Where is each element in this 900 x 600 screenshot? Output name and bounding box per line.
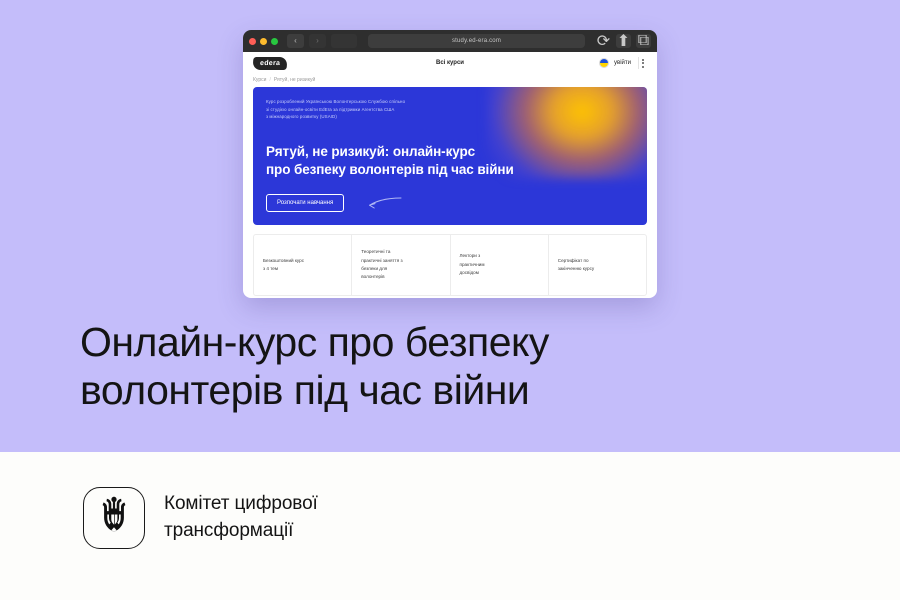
feature-card: Лектори з практичним досвідом	[451, 235, 549, 295]
committee-footer: Комітет цифрової трансформації	[83, 487, 318, 549]
tabs-overview-icon[interactable]: ⧉	[636, 34, 651, 48]
browser-window-mockup: ‹ › study.ed-era.com ⟳ ⬆ ⧉ edera Всі кур…	[243, 30, 657, 298]
edera-logo[interactable]: edera	[253, 57, 288, 70]
feature-card: Сертифікат по закінченню курсу	[549, 235, 646, 295]
close-window-button[interactable]	[249, 38, 256, 45]
committee-name: Комітет цифрової трансформації	[164, 491, 318, 545]
url-text: study.ed-era.com	[452, 38, 501, 44]
hero-title: Рятуй, не ризикуй: онлайн-курс про безпе…	[266, 143, 634, 178]
forward-icon[interactable]: ›	[309, 34, 326, 48]
address-bar[interactable]: study.ed-era.com	[368, 34, 585, 48]
browser-toolbar: ‹ › study.ed-era.com ⟳ ⬆ ⧉	[243, 30, 657, 52]
breadcrumb: Курси / Рятуй, не ризикуй	[243, 74, 657, 87]
back-icon[interactable]: ‹	[287, 34, 304, 48]
curved-arrow-icon	[356, 196, 402, 210]
feature-card: Теоретичні та практичні заняття з безпек…	[352, 235, 450, 295]
feature-card: Безкоштовний курс з 4 тем	[254, 235, 352, 295]
breadcrumb-item-courses[interactable]: Курси	[253, 77, 266, 83]
maximize-window-button[interactable]	[271, 38, 278, 45]
page-title: Онлайн-курс про безпеку волонтерів під ч…	[80, 318, 840, 415]
minimize-window-button[interactable]	[260, 38, 267, 45]
browser-toolbar-right: ⟳ ⬆ ⧉	[596, 34, 651, 48]
site-header: edera Всі курси увійти	[243, 52, 657, 74]
header-actions: увійти	[599, 57, 647, 69]
hero-banner: Курс розроблений Українською Волонтерськ…	[253, 87, 647, 225]
sidebar-toggle-icon[interactable]	[331, 34, 357, 48]
trident-icon	[96, 496, 132, 540]
login-link[interactable]: увійти	[614, 60, 631, 66]
ukraine-flag-icon[interactable]	[599, 58, 609, 68]
start-course-button[interactable]: Розпочати навчання	[266, 194, 344, 212]
breadcrumb-separator: /	[269, 77, 270, 83]
hero-kicker-text: Курс розроблений Українською Волонтерськ…	[266, 98, 466, 121]
feature-cards: Безкоштовний курс з 4 тем Теоретичні та …	[253, 234, 647, 296]
more-menu-icon[interactable]	[638, 57, 647, 69]
ukraine-trident-logo	[83, 487, 145, 549]
hero-cta-row: Розпочати навчання	[266, 194, 634, 212]
window-traffic-lights	[249, 38, 278, 45]
share-icon[interactable]: ⬆	[616, 34, 631, 48]
reload-icon[interactable]: ⟳	[596, 34, 611, 48]
nav-all-courses[interactable]: Всі курси	[436, 60, 464, 66]
breadcrumb-item-current: Рятуй, не ризикуй	[274, 77, 315, 83]
